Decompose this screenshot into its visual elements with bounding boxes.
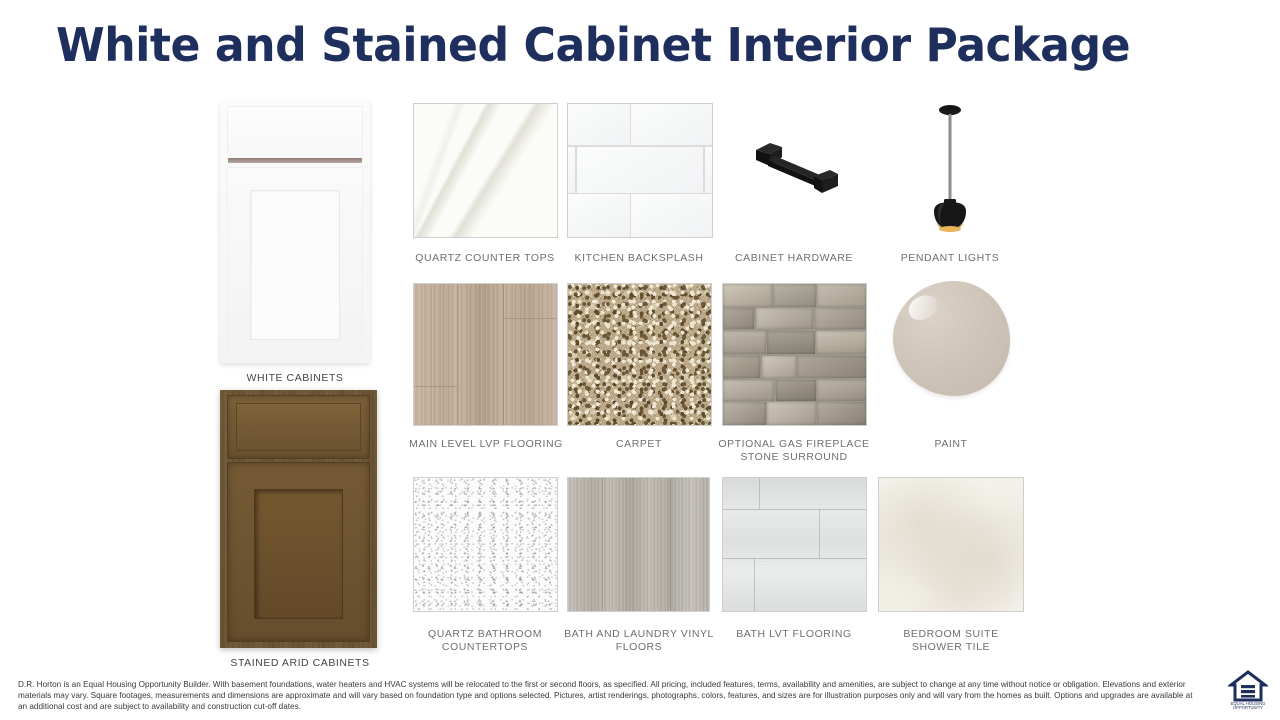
subway-brick bbox=[705, 147, 712, 194]
pendant-lights-label: PENDANT LIGHTS bbox=[880, 252, 1020, 265]
legal-disclaimer: D.R. Horton is an Equal Housing Opportun… bbox=[18, 679, 1200, 713]
equal-housing-icon: EQUAL HOUSING OPPORTUNITY bbox=[1228, 668, 1268, 710]
stone-slab bbox=[762, 356, 796, 379]
paint-swatch bbox=[893, 281, 1010, 396]
stone-slab bbox=[756, 308, 813, 329]
white-cabinet-door bbox=[227, 167, 363, 357]
subway-brick bbox=[568, 194, 630, 237]
bath-lvt-flooring-swatch bbox=[722, 477, 867, 612]
main-level-lvp-flooring-swatch bbox=[413, 283, 558, 426]
quartz-counter-tops-swatch bbox=[413, 103, 558, 238]
stone-slab bbox=[817, 402, 866, 425]
optional-gas-fireplace-stone-surround-swatch bbox=[722, 283, 867, 426]
carpet-label: CARPET bbox=[579, 438, 699, 451]
white-cabinet-image bbox=[220, 101, 370, 363]
svg-text:OPPORTUNITY: OPPORTUNITY bbox=[1233, 705, 1263, 710]
subway-brick bbox=[568, 147, 575, 194]
stone-slab bbox=[723, 331, 766, 355]
bath-and-laundry-vinyl-floors-label: BATH AND LAUNDRY VINYL FLOORS bbox=[564, 628, 714, 654]
bath-lvt-flooring-label: BATH LVT FLOORING bbox=[716, 628, 872, 641]
plank-seam bbox=[759, 478, 760, 509]
stone-slab bbox=[773, 284, 816, 307]
plank-seam bbox=[457, 284, 458, 425]
quartz-bathroom-countertops-swatch bbox=[413, 477, 558, 612]
main-level-lvp-flooring-label: MAIN LEVEL LVP FLOORING bbox=[400, 438, 572, 451]
page-title: White and Stained Cabinet Interior Packa… bbox=[56, 18, 1130, 72]
stained-cabinet-drawer-inset bbox=[236, 403, 361, 451]
plank-seam bbox=[503, 284, 504, 425]
white-cabinet-door-panel bbox=[250, 190, 340, 340]
quartz-counter-tops-label: QUARTZ COUNTER TOPS bbox=[400, 252, 570, 265]
plank-seam bbox=[754, 558, 755, 611]
bedroom-suite-shower-tile-label: BEDROOM SUITE SHOWER TILE bbox=[885, 628, 1017, 654]
cabinet-pull-icon bbox=[748, 138, 843, 200]
kitchen-backsplash-label: KITCHEN BACKSPLASH bbox=[559, 252, 719, 265]
white-cabinet-reveal-shadow bbox=[228, 158, 362, 163]
stained-cabinet-door-panel bbox=[254, 489, 343, 619]
pendant-lights-image bbox=[918, 99, 982, 237]
white-cabinet-drawer bbox=[227, 106, 363, 160]
white-cabinets-label: WHITE CABINETS bbox=[205, 372, 385, 385]
slide-canvas: White and Stained Cabinet Interior Packa… bbox=[0, 0, 1280, 720]
cabinet-hardware-image bbox=[748, 138, 843, 200]
paint-highlight bbox=[905, 290, 943, 325]
stone-slab bbox=[815, 308, 866, 329]
stone-slab bbox=[723, 380, 774, 401]
kitchen-backsplash-swatch bbox=[567, 103, 713, 238]
stone-slab bbox=[723, 284, 772, 307]
stone-slab bbox=[817, 284, 866, 307]
subway-brick bbox=[631, 104, 712, 145]
cabinet-hardware-label: CABINET HARDWARE bbox=[714, 252, 874, 265]
bath-and-laundry-vinyl-floors-swatch bbox=[567, 477, 710, 612]
stained-cabinet-door bbox=[227, 462, 370, 642]
subway-brick bbox=[631, 194, 712, 237]
equal-housing-opportunity-logo: EQUAL HOUSING OPPORTUNITY bbox=[1228, 668, 1268, 710]
quartz-bathroom-countertops-label: QUARTZ BATHROOM COUNTERTOPS bbox=[405, 628, 565, 654]
stone-slab bbox=[723, 356, 760, 379]
stone-slab bbox=[723, 402, 766, 425]
plank-seam bbox=[414, 386, 457, 387]
pendant-light-icon bbox=[918, 99, 982, 237]
stone-slab bbox=[797, 356, 866, 379]
carpet-swatch bbox=[567, 283, 712, 426]
stone-slab bbox=[723, 308, 754, 329]
stone-slab bbox=[816, 331, 866, 355]
plank-seam bbox=[503, 318, 557, 319]
optional-gas-fireplace-stone-surround-label: OPTIONAL GAS FIREPLACE STONE SURROUND bbox=[703, 438, 885, 464]
bedroom-suite-shower-tile-swatch bbox=[878, 477, 1024, 612]
stained-arid-cabinet-image bbox=[220, 390, 377, 648]
subway-brick bbox=[568, 104, 630, 145]
plank-seam bbox=[819, 509, 820, 558]
plank-seam bbox=[723, 509, 866, 510]
plank-seam bbox=[670, 478, 671, 611]
stained-arid-cabinets-label: STAINED ARID CABINETS bbox=[205, 657, 395, 670]
stone-slab bbox=[817, 380, 866, 401]
stained-cabinet-drawer bbox=[227, 395, 370, 459]
plank-seam bbox=[602, 478, 603, 611]
stone-slab bbox=[776, 380, 816, 401]
paint-label: PAINT bbox=[901, 438, 1001, 451]
stone-slab bbox=[767, 402, 816, 425]
subway-brick bbox=[577, 147, 704, 194]
plank-seam bbox=[723, 558, 866, 559]
stone-slab bbox=[767, 331, 814, 355]
